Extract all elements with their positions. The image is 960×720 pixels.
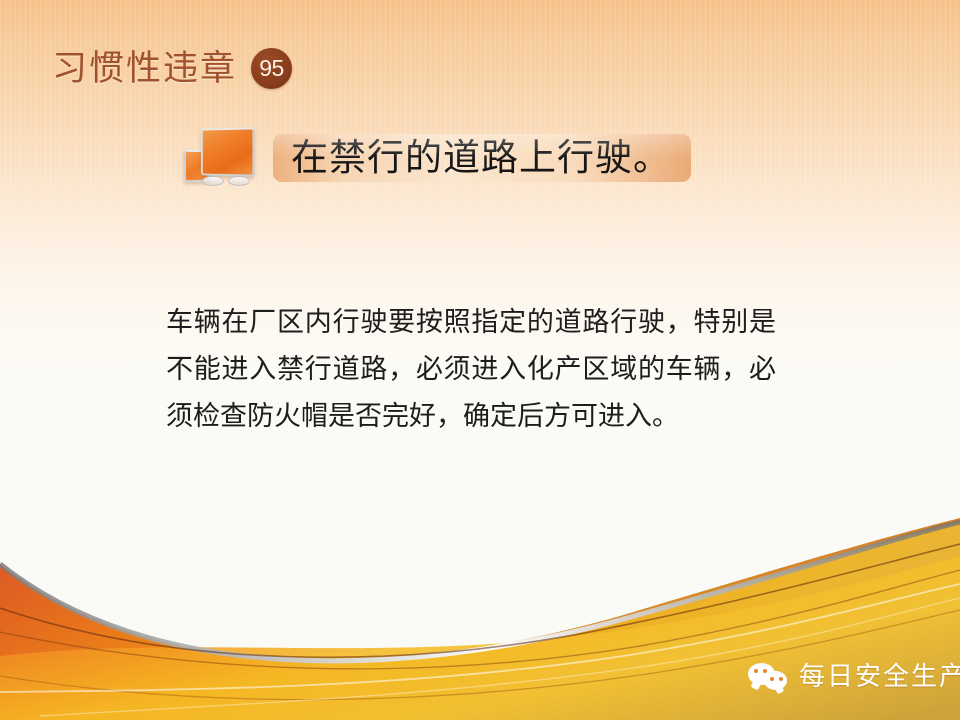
page-title: 习惯性违章 [52,51,237,86]
wechat-dot-3 [770,677,774,681]
slide-canvas: 习惯性违章 95 在禁行的道路上行驶。 车辆在厂区内行驶要按照指定的道路行驶，特… [0,0,960,720]
two-screens-icon [182,124,254,192]
screen-foot-left [202,176,224,186]
body-paragraph: 车辆在厂区内行驶要按照指定的道路行驶，特别是不能进入禁行道路，必须进入化产区域的… [166,299,776,440]
slide-number-badge: 95 [251,48,292,89]
wechat-dot-1 [754,669,758,673]
wechat-icon [748,662,788,692]
footer-account-name: 每日安全生产 [799,664,960,690]
wechat-dot-2 [763,669,767,673]
headline-group: 在禁行的道路上行驶。 [182,124,691,192]
headline-highlight-band: 在禁行的道路上行驶。 [273,134,691,182]
headline-text: 在禁行的道路上行驶。 [291,140,671,177]
wechat-dot-4 [779,677,783,681]
footer-watermark: 每日安全生产 [748,662,960,692]
screen-large-shape [201,127,255,176]
screen-foot-right [228,176,250,186]
wechat-bubble-small [764,671,787,690]
section-title-group: 习惯性违章 95 [52,48,292,89]
